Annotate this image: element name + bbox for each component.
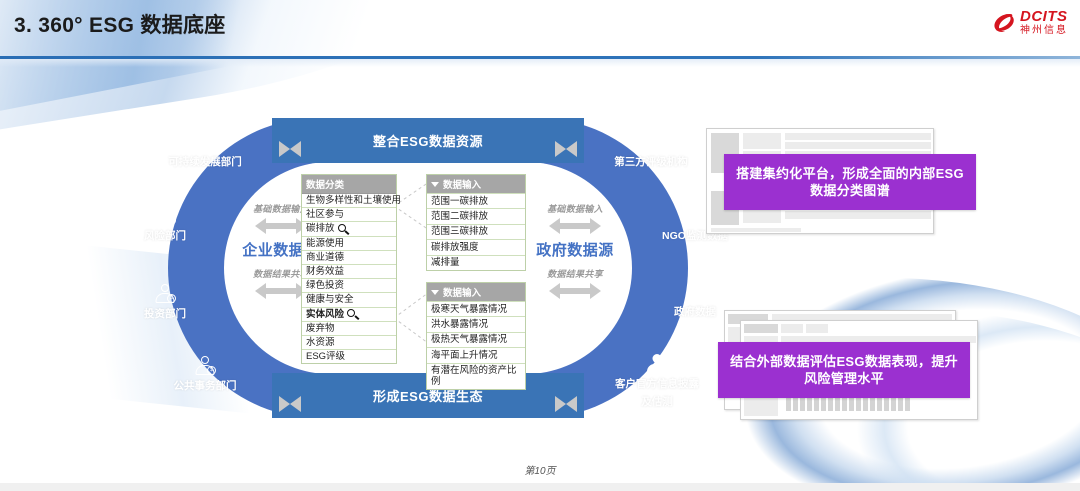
- data-input-row[interactable]: 减排量: [427, 255, 525, 270]
- actor-label: 第三方评级机构: [614, 156, 688, 168]
- actor-label: 投资部门: [144, 308, 186, 320]
- slide-header: 3. 360° ESG 数据底座 DCITS 神州信息: [0, 0, 1080, 56]
- chevron-down-icon[interactable]: [431, 290, 439, 295]
- classification-row-label: 碳排放: [306, 223, 335, 234]
- actor-third-party-rating-agency: 第三方评级机构: [608, 132, 694, 170]
- callout-card-risk-text: 结合外部数据评估ESG数据表现，提升风险管理水平: [718, 342, 970, 398]
- footer-bar: [0, 483, 1080, 491]
- search-icon[interactable]: [347, 309, 358, 320]
- classification-row[interactable]: 社区参与: [302, 208, 396, 222]
- actor-public-affairs-department: $ 公共事务部门: [162, 356, 248, 394]
- data-input-row-list-2: 极寒天气暴露情况洪水暴露情况极热天气暴露情况海平面上升情况有潜在风险的资产比例: [427, 301, 525, 389]
- logo-text-block: DCITS 神州信息: [1020, 9, 1068, 36]
- data-input-header-label: 数据输入: [443, 177, 481, 191]
- actor-client-official-disclosure: 客户官方信息披露及估测: [614, 354, 700, 410]
- enterprise-share-arrow-icon: [255, 283, 307, 299]
- enterprise-input-arrow-icon: [255, 218, 307, 234]
- person-icon: [683, 206, 707, 225]
- data-input-header-1: 数据输入: [427, 175, 525, 193]
- page-title: 3. 360° ESG 数据底座: [14, 9, 226, 39]
- data-input-header-label: 数据输入: [443, 285, 481, 299]
- classification-row[interactable]: 废弃物: [302, 322, 396, 336]
- title-divider-glow: [0, 59, 1080, 67]
- data-input-row[interactable]: 洪水暴露情况: [427, 316, 525, 331]
- classification-row[interactable]: 实体风险: [302, 308, 396, 322]
- actor-investment-department: $ 投资部门: [122, 284, 208, 322]
- logo-subtitle: 神州信息: [1020, 26, 1068, 36]
- person-icon: $: [193, 356, 217, 375]
- classification-row[interactable]: 能源使用: [302, 237, 396, 251]
- classification-row[interactable]: 健康与安全: [302, 293, 396, 307]
- callout-card-risk: 结合外部数据评估ESG数据表现，提升风险管理水平: [706, 300, 1016, 422]
- government-data-source-label: 政府数据源: [520, 239, 630, 260]
- actor-label: 风险部门: [144, 230, 186, 242]
- brand-logo: DCITS 神州信息: [990, 9, 1068, 36]
- data-input-header-2: 数据输入: [427, 283, 525, 301]
- classification-row-label: 财务效益: [306, 266, 344, 277]
- banner-integrate-esg-resources: 整合ESG数据资源: [272, 118, 584, 163]
- dcits-swirl-icon: [990, 10, 1016, 36]
- classification-row[interactable]: 商业道德: [302, 251, 396, 265]
- classification-row-list: 生物多样性和土壤使用社区参与碳排放能源使用商业道德财务效益绿色投资健康与安全实体…: [302, 194, 396, 363]
- data-input-row[interactable]: 海平面上升情况: [427, 347, 525, 362]
- actor-sustainability-department: $ 可持续发展部门: [162, 132, 248, 170]
- classification-row-label: 能源使用: [306, 238, 344, 249]
- callout-card-platform: 搭建集约化平台，形成全面的内部ESG数据分类图谱: [706, 128, 1006, 240]
- government-share-note: 数据结果共享: [520, 267, 630, 280]
- classification-row-label: 废弃物: [306, 323, 335, 334]
- person-icon: [639, 132, 663, 151]
- data-input-row[interactable]: 极寒天气暴露情况: [427, 301, 525, 316]
- classification-header: 数据分类: [302, 175, 396, 194]
- data-input-row[interactable]: 范围一碳排放: [427, 193, 525, 208]
- data-input-row[interactable]: 极热天气暴露情况: [427, 332, 525, 347]
- data-classification-table: 数据分类 生物多样性和土壤使用社区参与碳排放能源使用商业道德财务效益绿色投资健康…: [301, 174, 397, 364]
- classification-row[interactable]: 生物多样性和土壤使用: [302, 194, 396, 208]
- classification-row[interactable]: ESG评级: [302, 350, 396, 363]
- classification-row[interactable]: 水资源: [302, 336, 396, 350]
- data-input-row[interactable]: 碳排放强度: [427, 239, 525, 254]
- actor-risk-department: $ 风险部门: [122, 206, 208, 244]
- classification-row-label: ESG评级: [306, 351, 345, 362]
- classification-row-label: 健康与安全: [306, 294, 354, 305]
- classification-row-label: 生物多样性和土壤使用: [306, 195, 401, 206]
- classification-row-label: 水资源: [306, 337, 335, 348]
- classification-row[interactable]: 绿色投资: [302, 279, 396, 293]
- search-icon[interactable]: [338, 224, 349, 235]
- person-icon: [645, 354, 669, 373]
- person-icon: $: [193, 132, 217, 151]
- classification-row-label: 实体风险: [306, 309, 344, 320]
- logo-name: DCITS: [1020, 9, 1068, 24]
- data-input-row-list-1: 范围一碳排放范围二碳排放范围三碳排放碳排放强度减排量: [427, 193, 525, 270]
- data-input-row[interactable]: 有潜在风险的资产比例: [427, 363, 525, 390]
- banner-top-label: 整合ESG数据资源: [373, 131, 483, 150]
- government-data-source-column: 基础数据输入 政府数据源 数据结果共享: [520, 202, 630, 303]
- data-input-row[interactable]: 范围二碳排放: [427, 208, 525, 223]
- classification-row-label: 商业道德: [306, 252, 344, 263]
- actor-label: 可持续发展部门: [168, 156, 242, 168]
- classification-row-label: 绿色投资: [306, 280, 344, 291]
- callout-card-platform-text: 搭建集约化平台，形成全面的内部ESG数据分类图谱: [724, 154, 976, 210]
- page-number: 第10页: [0, 462, 1080, 477]
- chevron-down-icon[interactable]: [431, 182, 439, 187]
- person-icon: [683, 282, 707, 301]
- person-icon: $: [153, 206, 177, 225]
- person-icon: $: [153, 284, 177, 303]
- data-input-row[interactable]: 范围三碳排放: [427, 224, 525, 239]
- government-share-arrow-icon: [549, 283, 601, 299]
- classification-row[interactable]: 财务效益: [302, 265, 396, 279]
- classification-row-label: 社区参与: [306, 209, 344, 220]
- actor-label: 客户官方信息披露及估测: [615, 378, 699, 408]
- government-input-note: 基础数据输入: [520, 202, 630, 215]
- esg-data-foundation-diagram: 整合ESG数据资源 形成ESG数据生态 $ 可持续发展部门 $ 风险部门 $ 投…: [168, 118, 688, 418]
- data-input-panel-emissions: 数据输入 范围一碳排放范围二碳排放范围三碳排放碳排放强度减排量: [426, 174, 526, 271]
- actor-label: 公共事务部门: [174, 380, 237, 392]
- data-input-panel-physical-risk: 数据输入 极寒天气暴露情况洪水暴露情况极热天气暴露情况海平面上升情况有潜在风险的…: [426, 282, 526, 390]
- classification-row[interactable]: 碳排放: [302, 222, 396, 236]
- government-input-arrow-icon: [549, 218, 601, 234]
